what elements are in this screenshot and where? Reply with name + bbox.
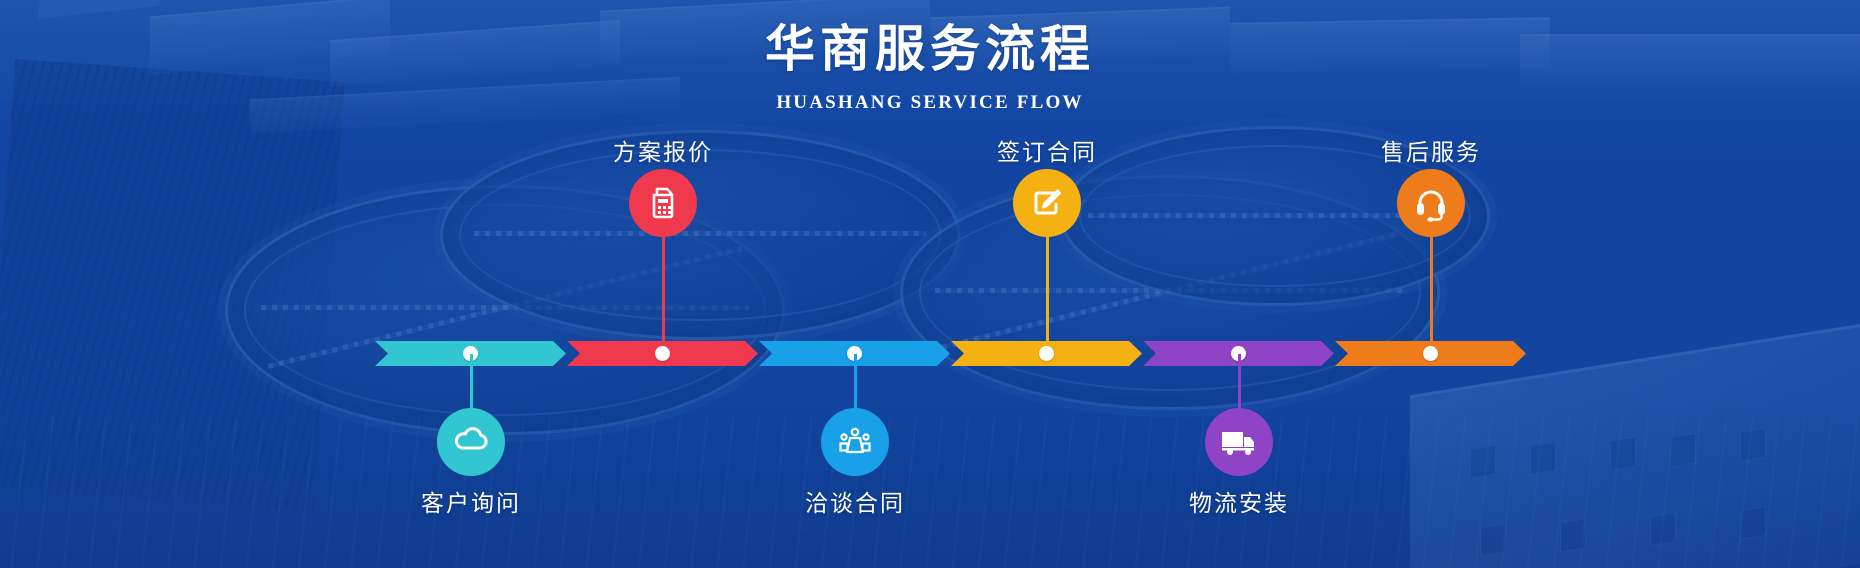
flow-label-2: 方案报价 <box>613 133 713 167</box>
page-subtitle: HUASHANG SERVICE FLOW <box>0 92 1860 114</box>
flow-label-4: 签订合同 <box>997 133 1097 167</box>
calculator-icon <box>644 183 682 223</box>
flow-segment-6[interactable] <box>1335 341 1526 366</box>
flow-icon-4[interactable] <box>1013 169 1081 237</box>
flow-label-1: 客户询问 <box>421 484 521 518</box>
flow-node-dot-2 <box>655 346 670 361</box>
meeting-icon <box>835 423 875 461</box>
flow-icon-5[interactable] <box>1205 408 1273 476</box>
flow-connector-4 <box>1046 237 1049 341</box>
flow-segment-2[interactable] <box>567 341 758 366</box>
flow-label-6: 售后服务 <box>1381 133 1481 167</box>
flow-connector-1 <box>470 354 473 414</box>
flow-connector-2 <box>662 237 665 341</box>
flow-connector-5 <box>1238 354 1241 414</box>
flow-icon-2[interactable] <box>629 169 697 237</box>
flow-arrow-bar <box>375 341 1525 366</box>
flow-node-dot-4 <box>1039 346 1054 361</box>
flow-node-dot-6 <box>1423 346 1438 361</box>
flow-label-5: 物流安装 <box>1189 484 1289 518</box>
sign-contract-icon <box>1027 183 1067 223</box>
flow-label-3: 洽谈合同 <box>805 484 905 518</box>
headset-icon <box>1411 183 1451 223</box>
flow-icon-1[interactable] <box>437 408 505 476</box>
flow-connector-6 <box>1430 237 1433 341</box>
header-block: 华商服务流程 HUASHANG SERVICE FLOW <box>0 18 1860 114</box>
service-flow-banner: 华商服务流程 HUASHANG SERVICE FLOW 客户询问 <box>0 0 1860 568</box>
flow-connector-3 <box>854 354 857 414</box>
truck-icon <box>1218 426 1260 458</box>
flow-icon-6[interactable] <box>1397 169 1465 237</box>
cloud-chat-icon <box>451 422 491 462</box>
flow-icon-3[interactable] <box>821 408 889 476</box>
flow-segment-4[interactable] <box>951 341 1142 366</box>
page-title: 华商服务流程 <box>0 18 1860 80</box>
